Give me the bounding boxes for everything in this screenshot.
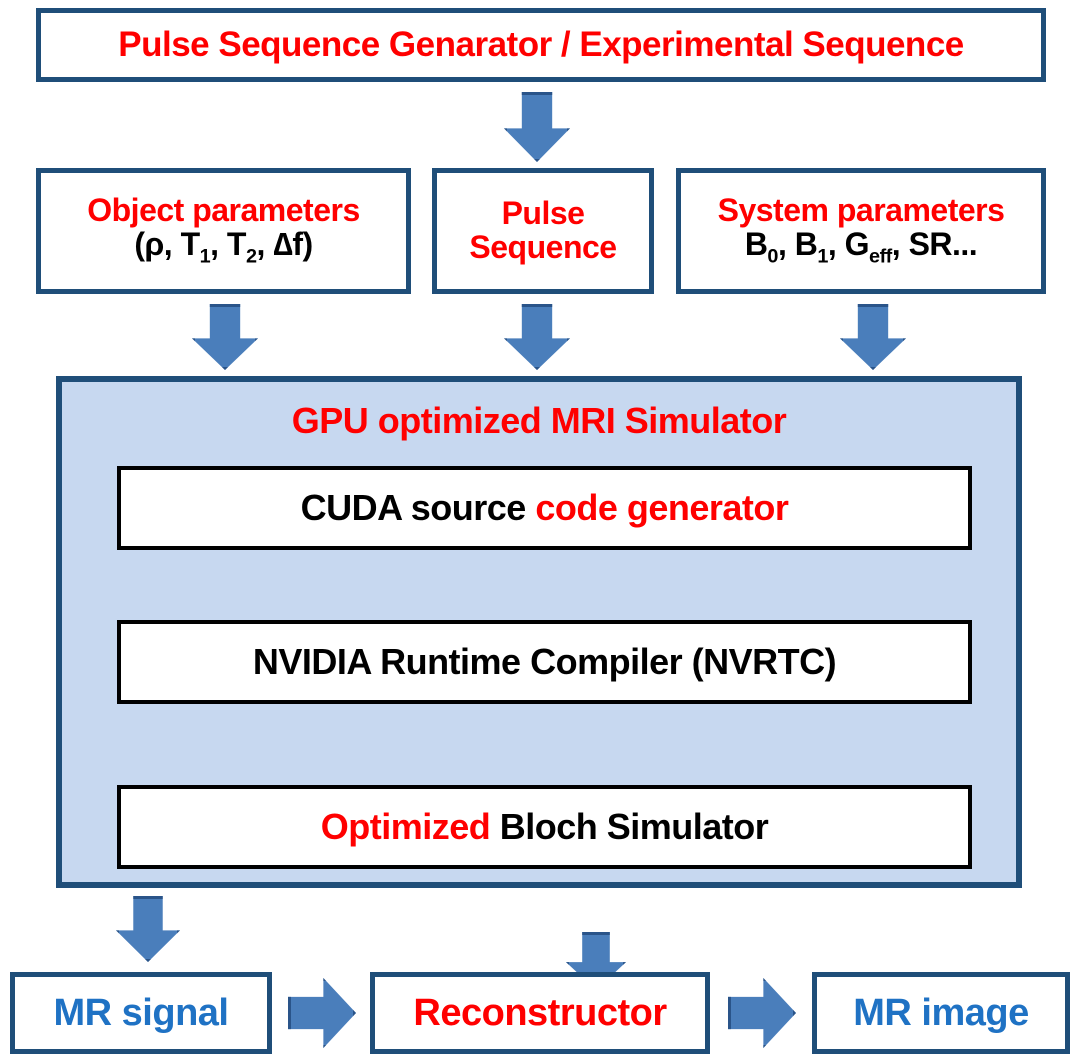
arrow-down-icon-object-to-gpu xyxy=(192,304,258,370)
b1-base: , B xyxy=(778,226,817,262)
rho-t: ρ, T xyxy=(144,226,199,262)
b0-subscript: 0 xyxy=(767,246,778,268)
reconstructor-label: Reconstructor xyxy=(375,993,705,1033)
arrow-down-icon-system-to-gpu xyxy=(840,304,906,370)
optimized-text: Optimized xyxy=(321,806,491,847)
diagram-canvas: Pulse Sequence Genarator / Experimental … xyxy=(0,0,1082,1062)
gpu-simulator-title: GPU optimized MRI Simulator xyxy=(62,400,1016,442)
cuda-source-text: CUDA source xyxy=(301,487,536,528)
t1-subscript: 1 xyxy=(200,246,211,268)
box-mr-signal[interactable]: MR signal xyxy=(10,972,272,1054)
box-pulse-sequence-generator-label: Pulse Sequence Genarator / Experimental … xyxy=(41,26,1041,63)
pulse-sequence-line1: Pulse xyxy=(502,195,585,231)
object-parameters-title: Object parameters xyxy=(87,192,360,228)
system-parameters-title: System parameters xyxy=(718,192,1005,228)
box-pulse-sequence-generator[interactable]: Pulse Sequence Genarator / Experimental … xyxy=(36,8,1046,82)
mr-signal-label: MR signal xyxy=(15,993,267,1033)
cuda-source-code-generator-label: CUDA source code generator xyxy=(301,487,789,529)
box-cuda-source-code-generator[interactable]: CUDA source code generator xyxy=(117,466,972,550)
system-parameters-symbols: B0, B1, Geff, SR... xyxy=(745,226,977,262)
box-mr-image[interactable]: MR image xyxy=(812,972,1070,1054)
box-object-parameters[interactable]: Object parameters (ρ, T1, T2, ∆f) xyxy=(36,168,411,294)
delta-f: , ∆f) xyxy=(257,226,313,262)
pulse-sequence-line2: Sequence xyxy=(469,229,616,265)
box-optimized-bloch-simulator[interactable]: Optimized Bloch Simulator xyxy=(117,785,972,869)
box-nvidia-runtime-compiler[interactable]: NVIDIA Runtime Compiler (NVRTC) xyxy=(117,620,972,704)
arrow-down-icon-gpu-to-mr-signal xyxy=(116,896,180,962)
box-pulse-sequence[interactable]: Pulse Sequence xyxy=(432,168,654,294)
optimized-bloch-simulator-label: Optimized Bloch Simulator xyxy=(321,806,769,848)
b1-subscript: 1 xyxy=(817,246,828,268)
paren-open: ( xyxy=(134,226,144,262)
mr-image-label: MR image xyxy=(817,993,1065,1033)
box-system-parameters-content: System parameters B0, B1, Geff, SR... xyxy=(681,194,1041,267)
arrow-right-icon-signal-to-reconstructor xyxy=(288,978,356,1048)
nvidia-runtime-compiler-label: NVIDIA Runtime Compiler (NVRTC) xyxy=(253,641,836,683)
box-object-parameters-content: Object parameters (ρ, T1, T2, ∆f) xyxy=(41,194,406,267)
box-pulse-sequence-content: Pulse Sequence xyxy=(437,197,649,265)
bloch-simulator-text: Bloch Simulator xyxy=(490,806,768,847)
object-parameters-symbols: (ρ, T1, T2, ∆f) xyxy=(134,226,312,262)
box-gpu-optimized-mri-simulator[interactable]: GPU optimized MRI Simulator CUDA source … xyxy=(56,376,1022,888)
arrow-right-icon-reconstructor-to-mr-image xyxy=(728,978,796,1048)
box-reconstructor[interactable]: Reconstructor xyxy=(370,972,710,1054)
sr-text: , SR... xyxy=(892,226,977,262)
code-generator-text: code generator xyxy=(535,487,788,528)
b0-base: B xyxy=(745,226,768,262)
arrow-down-icon-pulse-to-gpu xyxy=(504,304,570,370)
g-base: , G xyxy=(828,226,869,262)
t2-prefix: , T xyxy=(210,226,246,262)
g-eff-subscript: eff xyxy=(869,246,892,268)
box-system-parameters[interactable]: System parameters B0, B1, Geff, SR... xyxy=(676,168,1046,294)
arrow-down-icon-generator-to-inputs xyxy=(504,92,570,162)
t2-subscript: 2 xyxy=(246,246,257,268)
